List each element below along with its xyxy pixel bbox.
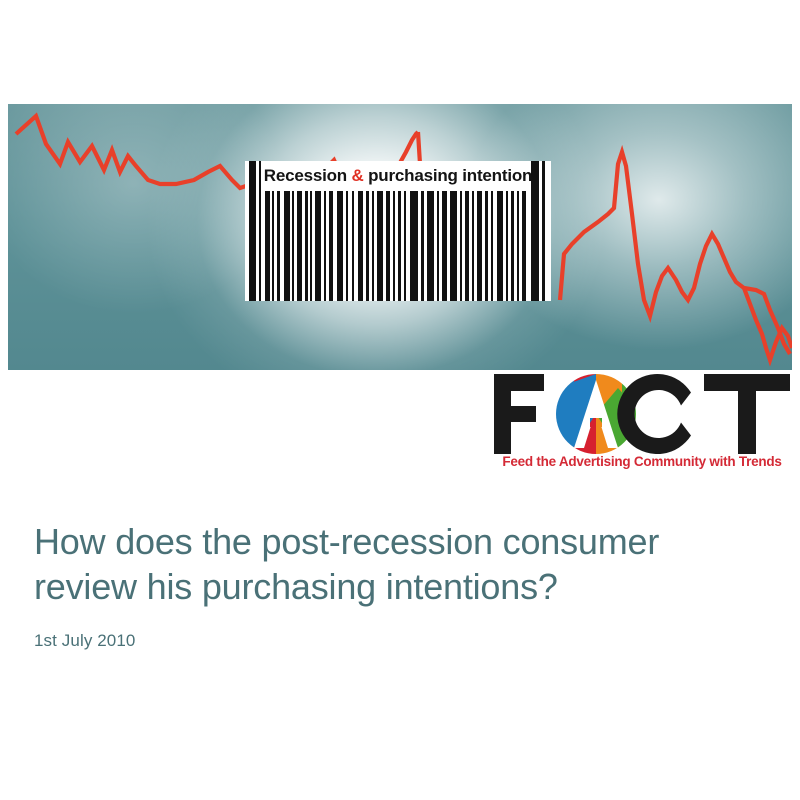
barcode-caption-suffix: purchasing intention [364,166,533,185]
page-title: How does the post-recession consumer rev… [34,520,754,609]
slide-root: Recession & purchasing intention [0,0,800,800]
fact-logo-tagline: Feed the Advertising Community with Tren… [492,454,792,469]
fact-logo: Feed the Advertising Community with Tren… [492,372,792,477]
logo-letter-f [494,374,544,454]
logo-letter-t [704,374,790,454]
logo-letter-c [617,374,691,454]
barcode-caption-prefix: Recession [264,166,352,185]
recession-banner: Recession & purchasing intention [8,104,792,370]
slide-date: 1st July 2010 [34,631,754,651]
barcode-caption-ampersand: & [352,166,364,185]
barcode-graphic: Recession & purchasing intention [245,161,551,301]
title-block: How does the post-recession consumer rev… [34,520,754,651]
fact-logo-mark [492,372,792,456]
barcode-caption: Recession & purchasing intention [245,161,551,191]
